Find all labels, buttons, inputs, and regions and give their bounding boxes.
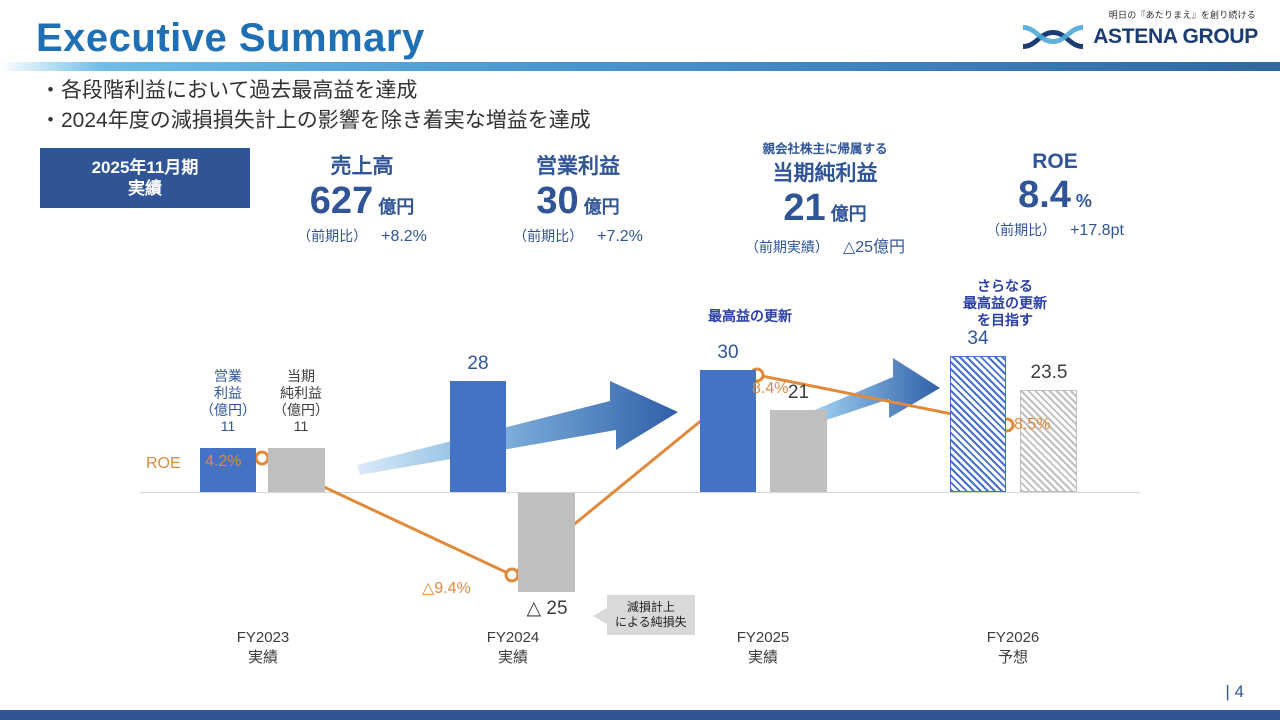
roe-label-fy2025: 8.4%: [752, 380, 788, 398]
kpi-compare-row: （前期比） +8.2%: [262, 226, 462, 246]
kpi-value-row: 8.4 %: [955, 176, 1155, 214]
annotation-line: さらなる: [910, 278, 1100, 295]
kpi-label: 売上高: [262, 150, 462, 180]
legend-line: 純利益: [258, 385, 344, 402]
page-number: | 4: [1225, 682, 1244, 702]
impairment-callout-tail: [593, 608, 607, 624]
kpi-unit: %: [1076, 191, 1092, 212]
kpi-net-income: 親会社株主に帰属する 当期純利益 21 億円 （前期実績） △25億円: [710, 138, 940, 257]
x-axis-label-fy2023: FY2023 実績: [202, 628, 324, 667]
page-title: Executive Summary: [36, 16, 425, 61]
kpi-compare-value: +17.8pt: [1070, 222, 1124, 240]
bullet-list: ・各段階利益において過去最高益を達成 ・2024年度の減損損失計上の影響を除き着…: [40, 76, 591, 137]
roe-label-fy2023: 4.2%: [205, 453, 241, 471]
x-axis-label-line: 実績: [452, 648, 574, 668]
legend-line: 当期: [258, 368, 344, 385]
company-logo: 明日の『あたりまえ』を創り続ける ASTENA GROUP: [1008, 8, 1258, 60]
bar-value-net-income-fy2026: 23.5: [1013, 362, 1085, 384]
kpi-compare-row: （前期比） +17.8pt: [955, 220, 1155, 240]
callout-line: 減損計上: [615, 600, 687, 615]
kpi-operating-profit: 営業利益 30 億円 （前期比） +7.2%: [478, 150, 678, 246]
x-axis-label-line: FY2025: [702, 628, 824, 648]
annotation-record-high: 最高益の更新: [640, 308, 860, 325]
x-axis-label-line: FY2024: [452, 628, 574, 648]
footer-bar: [0, 710, 1280, 720]
kpi-value-row: 627 億円: [262, 182, 462, 220]
kpi-compare-label: （前期比）: [513, 226, 583, 246]
kpi-value: 21: [783, 189, 825, 227]
x-axis-label-line: FY2026: [952, 628, 1074, 648]
kpi-label: 当期純利益: [710, 157, 940, 187]
kpi-compare-value: +7.2%: [597, 228, 643, 246]
kpi-unit: 億円: [378, 193, 414, 219]
legend-net-income: 当期 純利益 （億円） 11: [258, 368, 344, 435]
kpi-compare-value: △25億円: [843, 233, 905, 257]
kpi-value-row: 21 億円: [710, 189, 940, 227]
bar-operating-profit-fy2026: [950, 356, 1006, 492]
roe-legend-label: ROE: [146, 455, 181, 473]
logo-row: ASTENA GROUP: [1021, 22, 1258, 52]
kpi-unit: 億円: [831, 200, 867, 226]
kpi-compare-value: +8.2%: [381, 228, 427, 246]
kpi-value-row: 30 億円: [478, 182, 678, 220]
bar-value-operating-profit-fy2024: 28: [450, 353, 506, 375]
legend-line: （億円）: [258, 402, 344, 419]
astena-helix-icon: [1021, 22, 1087, 52]
kpi-compare-label: （前期実績）: [745, 237, 829, 257]
roe-label-fy2026: 8.5%: [1014, 416, 1050, 434]
kpi-unit: 億円: [584, 193, 620, 219]
period-badge-line1: 2025年11月期: [92, 157, 199, 178]
bar-value-operating-profit-fy2025: 30: [700, 342, 756, 364]
x-axis-label-fy2024: FY2024 実績: [452, 628, 574, 667]
slide: Executive Summary 明日の『あたりまえ』を創り続ける ASTEN…: [0, 0, 1280, 720]
bar-operating-profit-fy2024: [450, 381, 506, 492]
logo-wordmark: ASTENA GROUP: [1093, 25, 1258, 49]
bar-net-income-fy2025: [770, 410, 827, 492]
annotation-line: を目指す: [910, 312, 1100, 329]
bar-value-net-income-fy2024: △ 25: [510, 597, 584, 620]
period-badge-line2: 実績: [128, 178, 162, 199]
kpi-net-sales: 売上高 627 億円 （前期比） +8.2%: [262, 150, 462, 246]
kpi-label: ROE: [955, 150, 1155, 174]
callout-line: による純損失: [615, 615, 687, 630]
x-axis-label-line: 実績: [202, 648, 324, 668]
bar-operating-profit-fy2025: [700, 370, 756, 492]
roe-point-fy2024: [506, 569, 518, 581]
kpi-compare-label: （前期比）: [297, 226, 367, 246]
bar-net-income-fy2023: [268, 448, 325, 492]
roe-point-fy2023: [256, 452, 268, 464]
roe-label-fy2024: △9.4%: [422, 578, 471, 598]
annotation-further-record-high: さらなる 最高益の更新 を目指す: [910, 278, 1100, 328]
kpi-sublabel: 親会社株主に帰属する: [710, 138, 940, 157]
x-axis-label-line: FY2023: [202, 628, 324, 648]
period-badge: 2025年11月期 実績: [40, 148, 250, 208]
kpi-value: 30: [536, 182, 578, 220]
x-axis-label-fy2026: FY2026 予想: [952, 628, 1074, 667]
kpi-label: 営業利益: [478, 150, 678, 180]
kpi-compare-row: （前期実績） △25億円: [710, 233, 940, 257]
kpi-value: 8.4: [1018, 176, 1071, 214]
bullet-item: ・各段階利益において過去最高益を達成: [40, 76, 591, 106]
x-axis-label-line: 予想: [952, 648, 1074, 668]
title-underline-rule: [0, 62, 1280, 71]
kpi-value: 627: [310, 182, 373, 220]
bullet-item: ・2024年度の減損損失計上の影響を除き着実な増益を達成: [40, 106, 591, 136]
kpi-compare-label: （前期比）: [986, 220, 1056, 240]
roe-line: [262, 375, 1007, 575]
bar-value-operating-profit-fy2026: 34: [950, 328, 1006, 350]
legend-line: 11: [258, 418, 344, 435]
performance-chart: 営業 利益 （億円） 11 当期 純利益 （億円） 11 ROE 4.2% 28…: [0, 270, 1280, 670]
x-axis-label-line: 実績: [702, 648, 824, 668]
x-axis-label-fy2025: FY2025 実績: [702, 628, 824, 667]
impairment-callout: 減損計上 による純損失: [607, 595, 695, 635]
bar-net-income-fy2024: [518, 493, 575, 592]
bar-net-income-fy2026: [1020, 390, 1077, 492]
logo-tagline: 明日の『あたりまえ』を創り続ける: [1109, 8, 1256, 21]
kpi-compare-row: （前期比） +7.2%: [478, 226, 678, 246]
annotation-line: 最高益の更新: [910, 295, 1100, 312]
kpi-roe: ROE 8.4 % （前期比） +17.8pt: [955, 150, 1155, 240]
